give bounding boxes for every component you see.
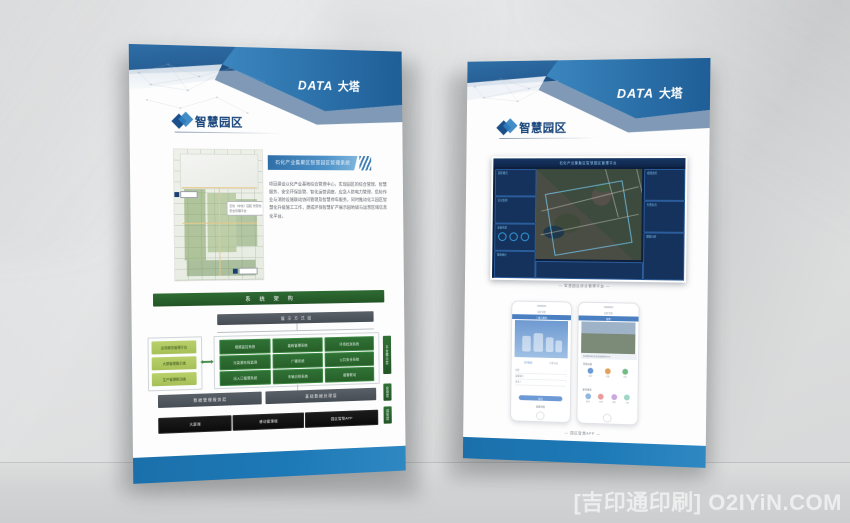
dash-right-panel-0[interactable]: 视频监控 [644,169,686,201]
dashboard-screenshot[interactable]: 石化产业集聚区智慧园区管理平台 园区概况 实时监测 设备状态 能耗统计 视频监控 [490,156,687,283]
satellite-map[interactable] [536,169,643,260]
app-icon-inspection[interactable]: 巡检 [617,369,633,379]
ribbon-bar: 石化产业集聚区智慧园区管理系统 [268,155,358,170]
phone-left-tab-0[interactable]: 实时数据 [524,360,532,364]
module-box-2-1[interactable]: 车辆识别系统 [273,368,323,384]
tank-shape-3 [555,340,562,352]
phone-left-tab-1[interactable]: 历史记录 [550,361,558,365]
module-box-2-2[interactable]: 报警联动 [325,367,374,383]
tank-shape-0 [522,336,531,352]
poster-left-header [129,44,403,132]
data-logo-en-right: DATA [617,86,654,101]
map-pin-b[interactable] [233,268,258,275]
app-icon-security[interactable]: 安防 [608,394,619,404]
service-layer-box-1[interactable]: 基础数据处理层 [265,388,376,404]
phone-right-home-button[interactable] [603,413,612,422]
dash-thumbnail-panel[interactable] [535,261,643,280]
app-icon-access[interactable]: 门禁 [621,394,632,404]
terminal-box-2[interactable]: 园区智慧APP [305,410,378,428]
gauge-icon-2 [521,232,530,241]
side-tab-1[interactable]: 应用层 [383,383,391,400]
terminal-box-1[interactable]: 移动管理端 [232,412,304,430]
presentation-layer-label: 展 示 方 式 层 [281,315,312,321]
module-box-0-2[interactable]: 环境检测系统 [324,336,373,352]
data-logo-cn: 大塔 [338,78,360,95]
dashboard-title: 石化产业集聚区智慧园区管理平台 [559,160,617,165]
tank-shape-1 [533,333,543,352]
dashboard-title-bar: 石化产业集聚区智慧园区管理平台 [493,158,685,167]
app-icon-energy[interactable]: 能耗 [582,393,593,403]
side-tab-0[interactable]: 平台展示层 [383,336,391,374]
phone-mockup-left[interactable]: 园区管理 三维可视化 实时数据 历史记录 位置› 设备编号› 负责人› 提交 查… [510,300,572,423]
brand-underline [175,132,282,134]
app-icon-environment[interactable]: 环保 [595,394,606,404]
phone-left-submit-button[interactable]: 提交 [519,395,563,401]
diamond-logo-icon [498,119,514,136]
left-column-box-2[interactable]: 生产管理移动端 [152,372,197,386]
phone-right-section-one: 常用功能 [583,362,592,366]
side-tab-2[interactable]: 感知层 [384,406,392,423]
phone-left-home-button[interactable] [536,411,545,420]
dashboard-caption: — 智慧园区综合管理平台 — [465,282,708,291]
phone-mockup-right[interactable]: 园区智慧 搜索 石化园区智慧化安全管理服务平台 常用功能 监控 报警 巡检 更多… [576,302,639,426]
dash-left-panel-3[interactable]: 能耗统计 [494,251,536,279]
phone-right-section-two: 更多服务 [583,387,592,391]
module-box-0-1[interactable]: 能耗管理系统 [272,337,322,353]
poster-left[interactable]: 智慧园区 DATA 大塔 石化产业集聚区智慧园区管理系统 项目建设以化产业基地综… [129,44,406,484]
terminal-box-0[interactable]: 大屏端 [158,415,232,434]
section-ribbon: 石化产业集聚区智慧园区管理系统 [268,155,372,170]
presentation-layer-bar: 展 示 方 式 层 [217,311,374,325]
intro-body-text: 项目建设以化产业基地综合管理中心，实现园区的综合管理、智慧服务、安全环保监管、智… [269,181,387,221]
module-box-2-0[interactable]: 出入口管理系统 [220,370,271,386]
data-logo-en: DATA [298,78,333,93]
diamond-logo-icon [174,113,191,130]
phone-left-tabs[interactable]: 实时数据 历史记录 [515,360,566,365]
watermark: [吉印通印刷] O2IYiN.COM [573,485,842,517]
architecture-title: 系 统 架 构 [245,294,296,303]
brand-name-right: 智慧园区 [519,119,567,136]
left-column-box-0[interactable]: 应用服务管理平台 [151,340,196,354]
app-icon-monitor[interactable]: 监控 [583,368,598,378]
ribbon-slash-decor [359,156,371,170]
architecture-title-band: 系 统 架 构 [153,290,384,307]
dash-gauges [498,232,529,241]
map-callout-primary[interactable]: 石化（中化）园区 智慧化安全管理平台 [226,201,264,216]
data-logo-right: DATA 大塔 [617,84,683,102]
phone-right-banner-caption: 石化园区智慧化安全管理服务平台 [581,353,637,360]
bidirectional-arrow [200,360,213,364]
brand-name: 智慧园区 [195,113,243,130]
left-column-box-1[interactable]: 大屏管理展示端 [152,356,197,370]
tank-shape-2 [546,337,554,352]
service-layer-box-0[interactable]: 数据管理服务层 [158,392,262,408]
brand-lockup-right: 智慧园区 [498,119,566,136]
scene-root: 智慧园区 DATA 大塔 石化产业集聚区智慧园区管理系统 项目建设以化产业基地综… [0,0,850,523]
data-logo: DATA 大塔 [298,77,360,95]
phone-right-banner-photo[interactable] [581,321,635,354]
site-map[interactable]: 石化（中化）园区 智慧化安全管理平台 [173,148,264,281]
phone-right-search-field[interactable]: 搜索 [606,316,611,320]
dash-left-panel-0[interactable]: 园区概况 [495,169,537,196]
phone-left-row-2[interactable]: 负责人› [515,379,566,386]
gauge-icon-1 [509,232,518,241]
brand-lockup: 智慧园区 [174,113,243,131]
app-icon-alarm[interactable]: 报警 [600,368,616,378]
module-box-1-2[interactable]: 公共安全系统 [325,351,374,367]
gauge-icon-0 [498,232,507,241]
phone-left-sub-label[interactable]: 查看详情 [536,404,545,408]
module-box-1-1[interactable]: 广播系统 [273,353,323,369]
phone-right-icon-grid-one[interactable]: 监控 报警 巡检 [583,368,633,379]
phone-left-3d-scene[interactable] [515,320,569,358]
dash-left-panel-1[interactable]: 实时监测 [495,196,537,223]
dash-right-panel-1[interactable]: 告警信息 [643,201,685,233]
data-logo-cn-right: 大塔 [659,84,683,101]
sat-road-3 [628,169,642,218]
header-shape-svg [129,44,403,132]
ribbon-title: 石化产业集聚区智慧园区管理系统 [275,159,350,166]
map-pin-a[interactable] [174,191,197,198]
map-zone-a [184,189,206,260]
module-box-0-0[interactable]: 视频监控系统 [219,339,270,355]
sat-boundary-overlay [545,180,633,256]
map-inset-aerial [180,153,259,189]
dash-right-panel-2[interactable]: 数据分析 [643,232,685,280]
phone-right-icon-grid-two[interactable]: 能耗 环保 安防 门禁 [582,393,632,404]
module-box-1-0[interactable]: 污染源在线监测 [219,354,270,370]
poster-right[interactable]: 智慧园区 DATA 大塔 石化产业集聚区智慧园区管理平台 园区概况 实时监测 设… [463,58,711,468]
